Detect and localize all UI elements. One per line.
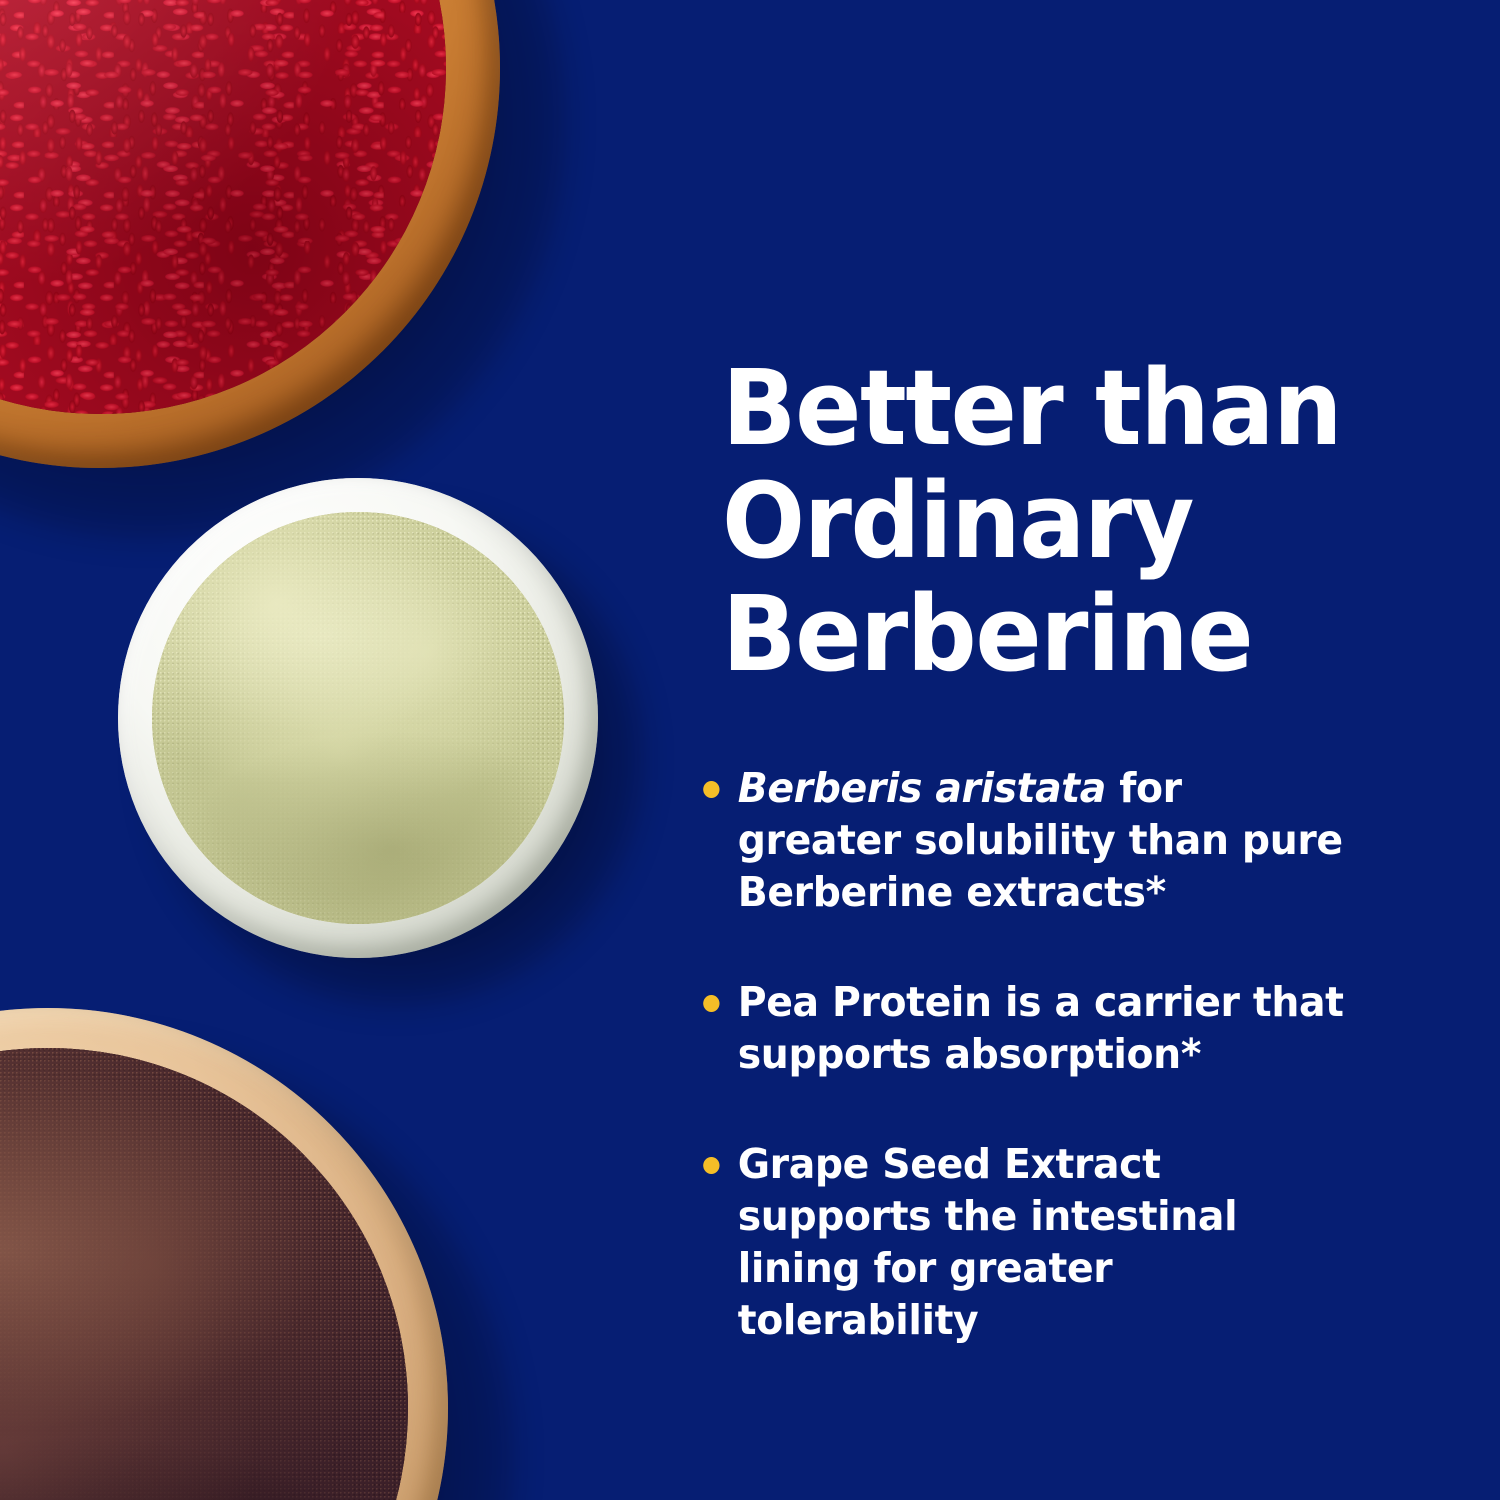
- benefit-list: Berberis aristata for greater solubility…: [684, 762, 1384, 1346]
- pea-protein-fill: [152, 512, 564, 924]
- copy-column: Better than Ordinary Berberine Berberis …: [722, 0, 1382, 1500]
- grape-seed-powder-texture: [0, 1048, 408, 1500]
- benefit-text: Grape Seed Extract supports the intestin…: [738, 1140, 1237, 1344]
- list-item: Grape Seed Extract supports the intestin…: [684, 1138, 1356, 1346]
- barberry-seeds-texture: [0, 0, 446, 414]
- benefit-emphasis: Berberis aristata: [738, 764, 1106, 812]
- bullet-dot-icon: [703, 781, 719, 798]
- grape-seed-extract-bowl: [0, 1008, 448, 1500]
- bullet-dot-icon: [703, 995, 719, 1012]
- red-barberries-bowl: [0, 0, 500, 468]
- list-item: Berberis aristata for greater solubility…: [684, 762, 1356, 918]
- list-item: Pea Protein is a carrier that supports a…: [684, 976, 1356, 1080]
- pea-protein-powder-texture: [152, 512, 564, 924]
- barberries-fill: [0, 0, 446, 414]
- page-title: Better than Ordinary Berberine: [722, 352, 1361, 691]
- product-benefit-graphic: Better than Ordinary Berberine Berberis …: [0, 0, 1500, 1500]
- bullet-dot-icon: [703, 1157, 719, 1174]
- grape-seed-extract-fill: [0, 1048, 408, 1500]
- benefit-text: Pea Protein is a carrier that supports a…: [738, 978, 1344, 1078]
- pea-protein-bowl: [118, 478, 598, 958]
